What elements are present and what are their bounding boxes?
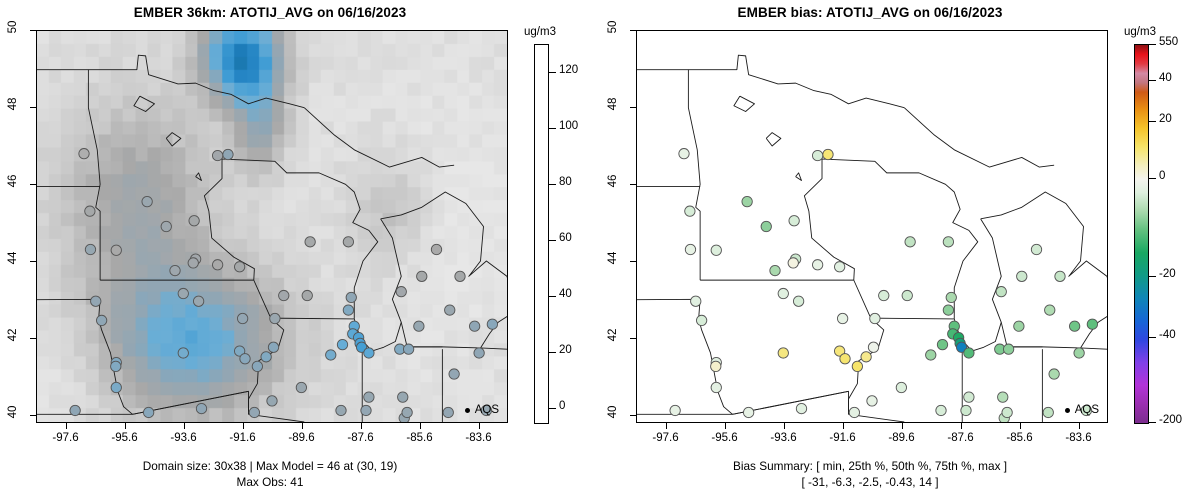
colorbar-tick — [1149, 422, 1156, 423]
colorbar-tick-label: 120 — [559, 64, 578, 76]
y-tick-mark — [30, 184, 36, 185]
x-tick-mark — [843, 423, 844, 429]
x-tick-mark — [302, 423, 303, 429]
x-tick-mark — [66, 423, 67, 429]
y-tick-mark — [630, 30, 636, 31]
y-tick-label: 50 — [7, 16, 19, 38]
y-tick-label: 42 — [7, 324, 19, 346]
colorbar-tick-label: -20 — [1159, 268, 1176, 280]
x-tick-label: -91.6 — [213, 432, 273, 444]
colorbar-tick — [1149, 121, 1156, 122]
colorbar-tick-label: 0 — [559, 400, 565, 412]
x-tick-mark — [666, 423, 667, 429]
y-tick-mark — [630, 338, 636, 339]
colorbar-tick — [549, 72, 556, 73]
x-tick-label: -85.6 — [390, 432, 450, 444]
y-tick-mark — [30, 338, 36, 339]
x-tick-label: -93.6 — [154, 432, 214, 444]
aqs-stations-right — [637, 31, 1107, 422]
x-tick-mark — [961, 423, 962, 429]
y-tick-mark — [30, 415, 36, 416]
x-tick-label: -95.6 — [95, 432, 155, 444]
x-tick-label: -87.6 — [931, 432, 991, 444]
aqs-legend-label: AQS — [475, 404, 499, 416]
x-tick-mark — [784, 423, 785, 429]
x-tick-label: -87.6 — [331, 432, 391, 444]
x-tick-label: -83.6 — [1049, 432, 1109, 444]
colorbar-tick-label: 0 — [1159, 170, 1165, 182]
colorbar-tick — [549, 128, 556, 129]
y-tick-label: 48 — [607, 93, 619, 115]
aqs-legend-left: AQS — [465, 404, 499, 416]
y-tick-mark — [630, 107, 636, 108]
aqs-legend-right: AQS — [1065, 404, 1099, 416]
right-caption-1: Bias Summary: [ min, 25th %, 50th %, 75t… — [600, 459, 1140, 473]
colorbar-tick-label: -200 — [1159, 414, 1182, 426]
x-tick-mark — [1079, 423, 1080, 429]
colorbar-tick — [1149, 178, 1156, 179]
colorbar-tick-label: 20 — [1159, 113, 1172, 125]
y-tick-mark — [630, 415, 636, 416]
y-tick-label: 50 — [607, 16, 619, 38]
colorbar-tick-label: -40 — [1159, 329, 1176, 341]
colorbar-tick — [1149, 44, 1156, 45]
colorbar-tick-label: 550 — [1159, 36, 1178, 48]
aqs-stations-left — [37, 31, 507, 422]
y-tick-mark — [30, 107, 36, 108]
colorbar-tick-label: 80 — [559, 176, 572, 188]
colorbar-tick — [549, 184, 556, 185]
x-tick-label: -95.6 — [695, 432, 755, 444]
y-tick-label: 46 — [607, 170, 619, 192]
x-tick-mark — [420, 423, 421, 429]
y-tick-label: 44 — [607, 247, 619, 269]
y-tick-label: 48 — [7, 93, 19, 115]
colorbar-tick-label: 60 — [559, 232, 572, 244]
colorbar-gradient — [1134, 44, 1149, 424]
y-tick-label: 40 — [7, 401, 19, 423]
colorbar-tick-label: 40 — [1159, 72, 1172, 84]
y-tick-mark — [630, 261, 636, 262]
x-tick-label: -89.6 — [872, 432, 932, 444]
colorbar-tick — [549, 352, 556, 353]
colorbar-tick-label: 20 — [559, 344, 572, 356]
left-panel-title: EMBER 36km: ATOTIJ_AVG on 06/16/2023 — [0, 5, 540, 20]
colorbar-tick — [549, 296, 556, 297]
panel-model: EMBER 36km: ATOTIJ_AVG on 06/16/2023 AQS… — [0, 0, 600, 502]
right-caption-2: [ -31, -6.3, -2.5, -0.43, 14 ] — [600, 475, 1140, 489]
colorbar-tick — [549, 240, 556, 241]
right-panel-title: EMBER bias: ATOTIJ_AVG on 06/16/2023 — [600, 5, 1140, 20]
colorbar-gradient — [534, 44, 549, 424]
aqs-dot-icon — [465, 408, 470, 413]
colorbar-units-label: ug/m3 — [524, 26, 556, 38]
colorbar-tick — [1149, 80, 1156, 81]
left-caption-1: Domain size: 30x38 | Max Model = 46 at (… — [0, 459, 540, 473]
x-tick-mark — [243, 423, 244, 429]
x-tick-mark — [125, 423, 126, 429]
x-tick-label: -89.6 — [272, 432, 332, 444]
y-tick-mark — [30, 30, 36, 31]
left-caption-2: Max Obs: 41 — [0, 475, 540, 489]
x-tick-mark — [361, 423, 362, 429]
x-tick-mark — [725, 423, 726, 429]
y-tick-mark — [630, 184, 636, 185]
figure-root: EMBER 36km: ATOTIJ_AVG on 06/16/2023 AQS… — [0, 0, 1200, 502]
model-map-plot[interactable]: AQS — [36, 30, 508, 423]
y-tick-label: 44 — [7, 247, 19, 269]
colorbar-tick — [1149, 337, 1156, 338]
x-tick-label: -85.6 — [990, 432, 1050, 444]
x-tick-label: -91.6 — [813, 432, 873, 444]
x-tick-label: -93.6 — [754, 432, 814, 444]
x-tick-mark — [1020, 423, 1021, 429]
colorbar-tick-label: 100 — [559, 120, 578, 132]
y-tick-label: 46 — [7, 170, 19, 192]
colorbar-units-label: ug/m3 — [1124, 26, 1156, 38]
bias-map-plot[interactable]: AQS — [636, 30, 1108, 423]
x-tick-label: -97.6 — [636, 432, 696, 444]
aqs-legend-label: AQS — [1075, 404, 1099, 416]
aqs-dot-icon — [1065, 408, 1070, 413]
y-tick-label: 40 — [607, 401, 619, 423]
panel-bias: EMBER bias: ATOTIJ_AVG on 06/16/2023 AQS… — [600, 0, 1200, 502]
colorbar-tick — [1149, 276, 1156, 277]
x-tick-mark — [902, 423, 903, 429]
x-tick-mark — [479, 423, 480, 429]
y-tick-label: 42 — [607, 324, 619, 346]
colorbar-tick — [549, 408, 556, 409]
colorbar-tick-label: 40 — [559, 288, 572, 300]
y-tick-mark — [30, 261, 36, 262]
x-tick-label: -97.6 — [36, 432, 96, 444]
x-tick-label: -83.6 — [449, 432, 509, 444]
x-tick-mark — [184, 423, 185, 429]
